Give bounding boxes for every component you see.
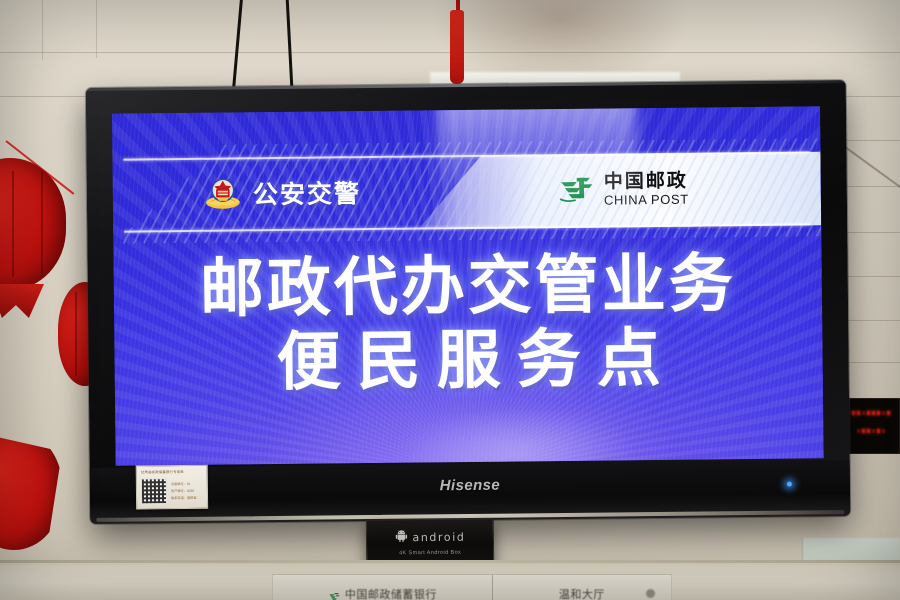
- police-emblem-icon: [205, 175, 241, 211]
- android-box-subtitle: 4K Smart Android Box: [399, 549, 461, 556]
- police-label: 公安交警: [253, 174, 361, 211]
- asset-sticker: 甘肃省邮政储蓄银行专用章 设备编号：01 资产编号：0038 联系电话：值班室: [136, 465, 208, 510]
- sticker-lines: 设备编号：01 资产编号：0038 联系电话：值班室: [171, 481, 203, 500]
- police-branding: 公安交警: [205, 174, 361, 212]
- sticker-body: 设备编号：01 资产编号：0038 联系电话：值班室: [141, 476, 203, 506]
- android-robot-icon: [394, 529, 407, 547]
- television: 公安交警: [86, 80, 851, 524]
- counter-sign-left: 中国邮政储蓄银行: [273, 575, 493, 600]
- counter-sign-right: 温和大厅: [493, 575, 671, 600]
- android-tv-box[interactable]: android 4K Smart Android Box: [366, 518, 494, 565]
- qr-code-icon: [141, 478, 167, 504]
- power-led-indicator: [787, 482, 792, 487]
- sticker-heading: 甘肃省邮政储蓄银行专用章: [141, 469, 203, 475]
- china-post-name-cn: 中国邮政: [604, 172, 689, 192]
- tv-screen[interactable]: 公安交警: [112, 106, 824, 465]
- sticker-line: 联系电话：值班室: [171, 495, 203, 500]
- china-post-branding: 中国邮政 CHINA POST: [559, 172, 689, 207]
- screen-banner: 公安交警: [112, 138, 821, 244]
- photo-scene: 公安交警: [0, 0, 900, 600]
- android-branding: android: [394, 528, 465, 547]
- china-post-wordmark: 中国邮政 CHINA POST: [604, 172, 689, 207]
- counter-sign: 中国邮政储蓄银行 温和大厅: [272, 574, 672, 600]
- screen-title-line2: 便民服务点: [114, 324, 823, 397]
- counter-sign-right-text: 温和大厅: [559, 586, 605, 600]
- red-tassel-icon: [450, 10, 464, 84]
- counter-sign-left-text: 中国邮政储蓄银行: [345, 586, 437, 600]
- screen-title-line1: 邮政代办交管业务: [114, 251, 823, 324]
- counter-sign-dot: [646, 589, 655, 598]
- screen-title: 邮政代办交管业务 便民服务点: [114, 251, 823, 397]
- sticker-line: 资产编号：0038: [171, 488, 203, 493]
- china-post-logo-icon: [328, 589, 341, 599]
- sticker-line: 设备编号：01: [171, 481, 203, 486]
- china-post-logo-icon: [559, 175, 595, 205]
- led-scrolling-sign-icon: [842, 398, 900, 454]
- china-post-name-en: CHINA POST: [604, 193, 689, 207]
- android-brand-word: android: [412, 531, 465, 545]
